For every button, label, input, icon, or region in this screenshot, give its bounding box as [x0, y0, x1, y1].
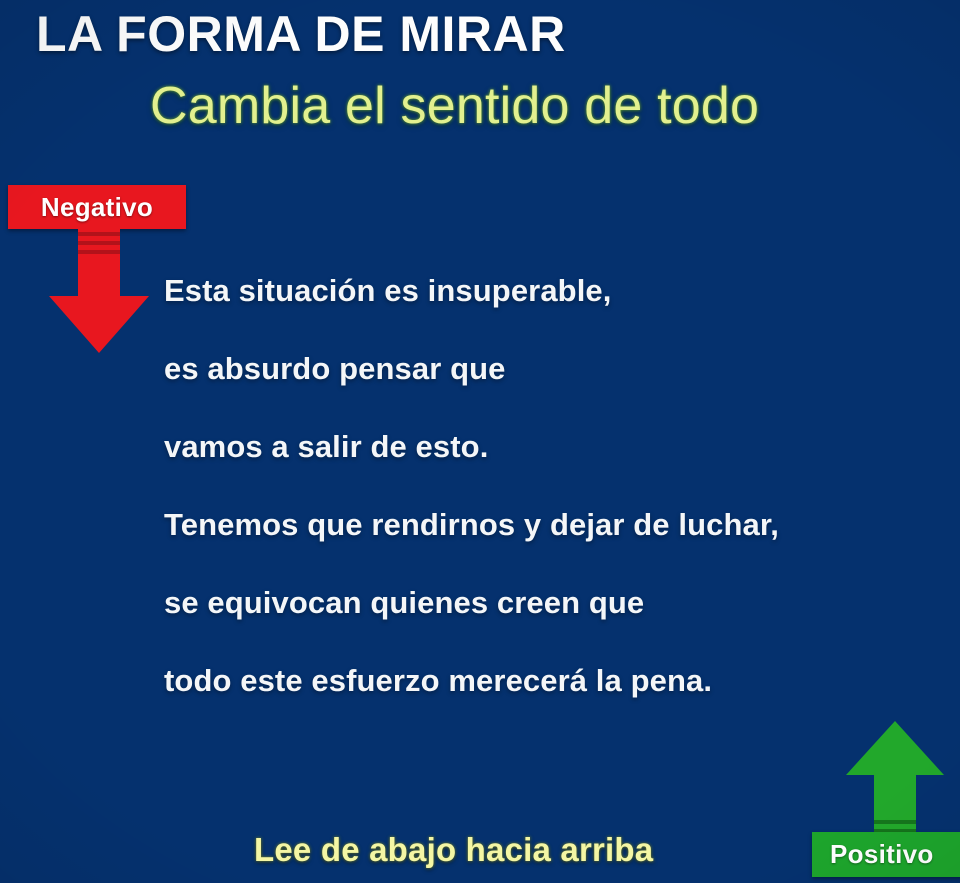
- poster-canvas: LA FORMA DE MIRAR Cambia el sentido de t…: [0, 0, 960, 883]
- positive-badge-label: Positivo: [830, 839, 934, 870]
- page-subtitle: Cambia el sentido de todo: [150, 76, 759, 136]
- body-line: todo este esfuerzo merecerá la pena.: [164, 642, 960, 720]
- body-copy: Esta situación es insuperable, es absurd…: [164, 252, 960, 720]
- negative-badge-label: Negativo: [41, 192, 153, 223]
- body-line: se equivocan quienes creen que: [164, 564, 960, 642]
- arrow-down-icon: [45, 228, 153, 353]
- body-line: es absurdo pensar que: [164, 330, 960, 408]
- negative-badge: Negativo: [8, 185, 186, 229]
- positive-badge: Positivo: [812, 832, 960, 877]
- body-line: Tenemos que rendirnos y dejar de luchar,: [164, 486, 960, 564]
- arrow-up-icon: [843, 721, 947, 837]
- page-title: LA FORMA DE MIRAR: [36, 6, 566, 62]
- read-direction-hint: Lee de abajo hacia arriba: [254, 831, 653, 869]
- body-line: vamos a salir de esto.: [164, 408, 960, 486]
- body-line: Esta situación es insuperable,: [164, 252, 960, 330]
